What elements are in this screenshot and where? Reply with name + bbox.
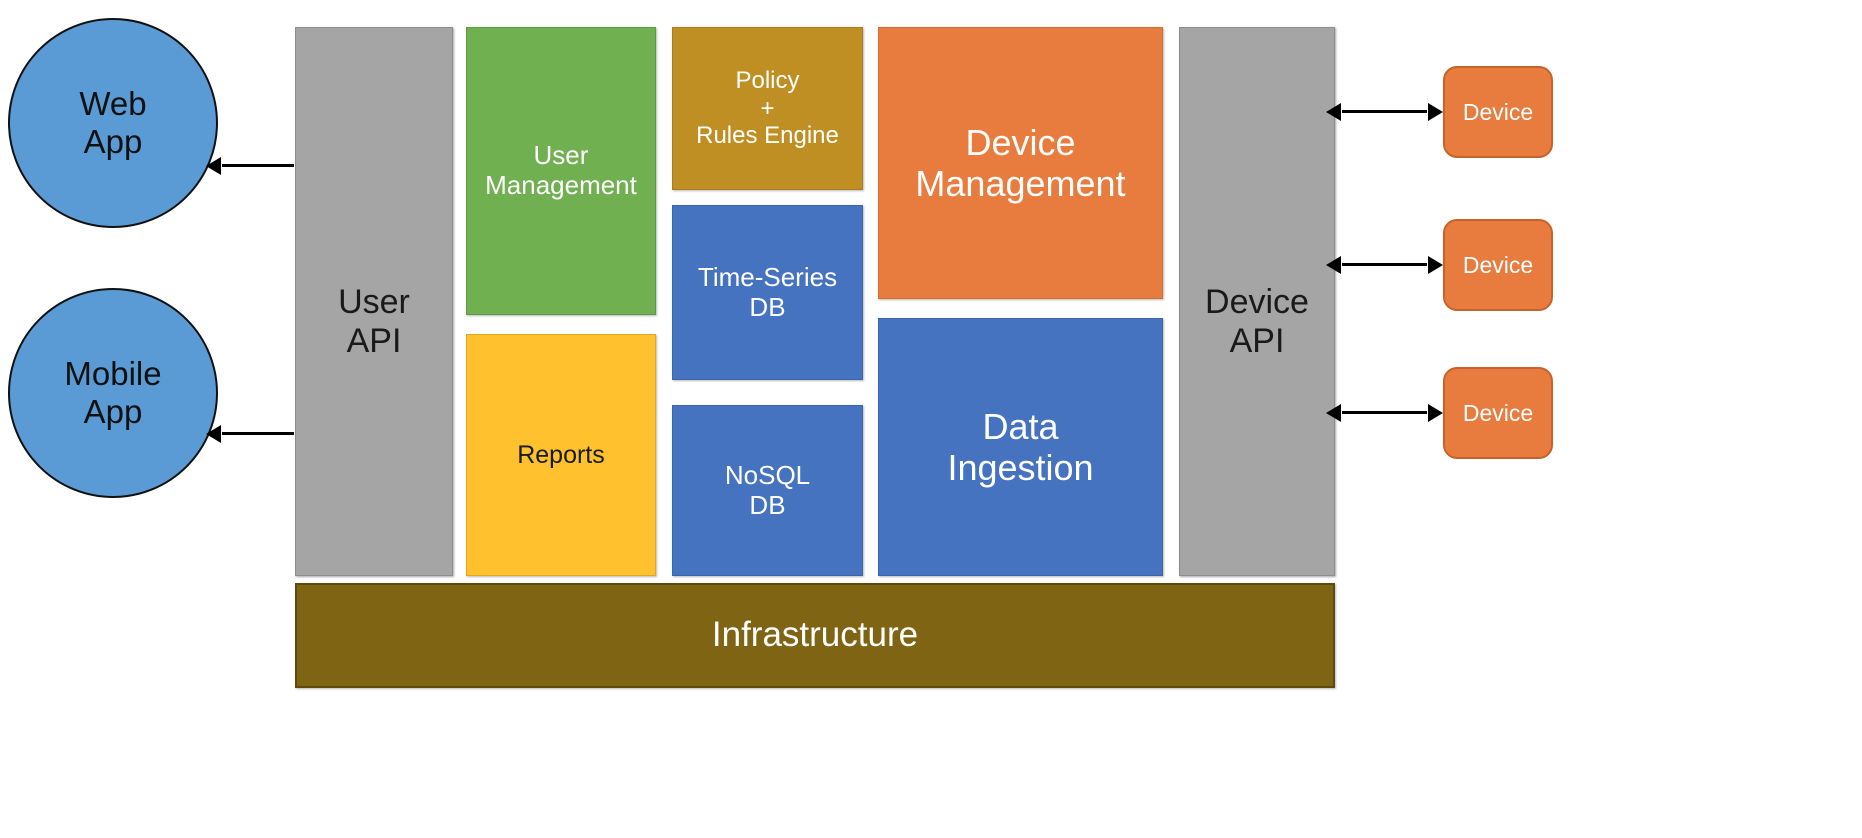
node-nosql-db[interactable]: NoSQL DB: [672, 405, 863, 576]
node-device-3[interactable]: Device: [1443, 367, 1553, 459]
node-device-api-label: Device API: [1180, 283, 1334, 361]
node-user-api-label: User API: [296, 283, 452, 361]
node-device-2[interactable]: Device: [1443, 219, 1553, 311]
node-time-series-db[interactable]: Time-Series DB: [672, 205, 863, 380]
node-mobile-app-label: Mobile App: [64, 355, 161, 431]
connector-web-app-to-user-api: [222, 164, 294, 167]
node-reports-label: Reports: [517, 441, 605, 470]
node-device-1[interactable]: Device: [1443, 66, 1553, 158]
node-user-management[interactable]: User Management: [466, 27, 656, 315]
node-time-series-db-label: Time-Series DB: [698, 263, 837, 323]
connector-mobile-app-to-user-api: [222, 432, 294, 435]
node-device-2-label: Device: [1463, 252, 1533, 278]
connector-device-api-to-device-2: [1342, 263, 1427, 266]
node-web-app[interactable]: Web App: [8, 18, 218, 228]
node-reports[interactable]: Reports: [466, 334, 656, 576]
node-policy-rules-engine-label: Policy + Rules Engine: [696, 67, 839, 150]
connector-device-api-to-device-3: [1342, 411, 1427, 414]
node-mobile-app[interactable]: Mobile App: [8, 288, 218, 498]
node-nosql-db-label: NoSQL DB: [725, 461, 810, 521]
node-infrastructure[interactable]: Infrastructure: [295, 583, 1335, 688]
connector-device-api-to-device-1: [1342, 110, 1427, 113]
node-device-management[interactable]: Device Management: [878, 27, 1163, 299]
node-device-3-label: Device: [1463, 400, 1533, 426]
node-data-ingestion-label: Data Ingestion: [947, 406, 1093, 489]
node-user-api[interactable]: User API: [295, 27, 453, 576]
node-infrastructure-label: Infrastructure: [712, 615, 918, 655]
node-data-ingestion[interactable]: Data Ingestion: [878, 318, 1163, 576]
node-device-1-label: Device: [1463, 99, 1533, 125]
node-device-management-label: Device Management: [915, 122, 1125, 205]
architecture-diagram-canvas: Web App Mobile App User API User Managem…: [0, 0, 1862, 838]
node-web-app-label: Web App: [79, 85, 146, 161]
node-policy-rules-engine[interactable]: Policy + Rules Engine: [672, 27, 863, 190]
node-user-management-label: User Management: [485, 141, 637, 201]
node-device-api[interactable]: Device API: [1179, 27, 1335, 576]
